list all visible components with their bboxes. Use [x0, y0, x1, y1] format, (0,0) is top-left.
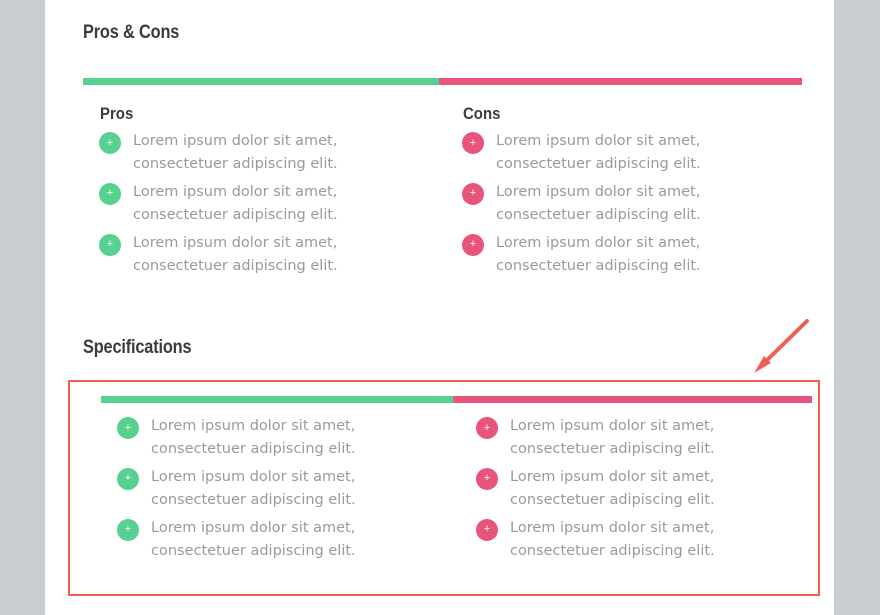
list-item-text: Lorem ipsum dolor sit amet, consectetuer… [510, 415, 790, 462]
list-item: + Lorem ipsum dolor sit amet, consectetu… [460, 415, 812, 462]
document-content: Pros & Cons Pros + Lorem ipsum dolor sit… [83, 0, 798, 615]
list-item-text: Lorem ipsum dolor sit amet, consectetuer… [510, 517, 790, 564]
column-heading-cons: Cons [463, 104, 761, 124]
section-divider-bar-pros-cons [83, 78, 802, 85]
list-item: + Lorem ipsum dolor sit amet, consectetu… [460, 517, 812, 564]
column-specifications-right: + Lorem ipsum dolor sit amet, consectetu… [460, 415, 812, 568]
columns-pros-cons: Pros + Lorem ipsum dolor sit amet, conse… [83, 104, 802, 283]
list-item-text: Lorem ipsum dolor sit amet, consectetuer… [496, 130, 776, 177]
column-heading-pros: Pros [100, 104, 398, 124]
list-item: + Lorem ipsum dolor sit amet, consectetu… [446, 181, 802, 228]
plus-circle-icon: + [117, 468, 139, 490]
list-item: + Lorem ipsum dolor sit amet, consectetu… [101, 415, 453, 462]
list-item-text: Lorem ipsum dolor sit amet, consectetuer… [151, 415, 431, 462]
list-item: + Lorem ipsum dolor sit amet, consectetu… [83, 181, 439, 228]
column-pros: Pros + Lorem ipsum dolor sit amet, conse… [83, 104, 439, 283]
plus-circle-icon: + [462, 234, 484, 256]
list-item: + Lorem ipsum dolor sit amet, consectetu… [101, 466, 453, 513]
section-title-pros-cons: Pros & Cons [83, 22, 179, 44]
divider-segment-green [83, 78, 439, 85]
feature-list-cons: + Lorem ipsum dolor sit amet, consectetu… [446, 130, 802, 279]
divider-segment-pink [453, 396, 812, 403]
list-item-text: Lorem ipsum dolor sit amet, consectetuer… [151, 466, 431, 513]
section-divider-bar-specifications [101, 396, 812, 403]
plus-circle-icon: + [476, 519, 498, 541]
feature-list-specifications-right: + Lorem ipsum dolor sit amet, consectetu… [460, 415, 812, 564]
section-title-specifications: Specifications [83, 337, 191, 359]
page-root: Pros & Cons Pros + Lorem ipsum dolor sit… [0, 0, 880, 615]
plus-circle-icon: + [117, 417, 139, 439]
plus-circle-icon: + [462, 183, 484, 205]
list-item: + Lorem ipsum dolor sit amet, consectetu… [460, 466, 812, 513]
columns-specifications: + Lorem ipsum dolor sit amet, consectetu… [101, 415, 820, 568]
plus-circle-icon: + [476, 468, 498, 490]
document-sheet: Pros & Cons Pros + Lorem ipsum dolor sit… [45, 0, 834, 615]
list-item: + Lorem ipsum dolor sit amet, consectetu… [101, 517, 453, 564]
plus-circle-icon: + [117, 519, 139, 541]
list-item-text: Lorem ipsum dolor sit amet, consectetuer… [496, 181, 776, 228]
plus-circle-icon: + [476, 417, 498, 439]
divider-segment-green [101, 396, 453, 403]
list-item: + Lorem ipsum dolor sit amet, consectetu… [83, 232, 439, 279]
list-item: + Lorem ipsum dolor sit amet, consectetu… [83, 130, 439, 177]
divider-segment-pink [439, 78, 802, 85]
feature-list-pros: + Lorem ipsum dolor sit amet, consectetu… [83, 130, 439, 279]
column-specifications-left: + Lorem ipsum dolor sit amet, consectetu… [101, 415, 453, 568]
plus-circle-icon: + [462, 132, 484, 154]
column-cons: Cons + Lorem ipsum dolor sit amet, conse… [446, 104, 802, 283]
list-item-text: Lorem ipsum dolor sit amet, consectetuer… [151, 517, 431, 564]
list-item: + Lorem ipsum dolor sit amet, consectetu… [446, 232, 802, 279]
list-item-text: Lorem ipsum dolor sit amet, consectetuer… [510, 466, 790, 513]
list-item-text: Lorem ipsum dolor sit amet, consectetuer… [133, 130, 413, 177]
plus-circle-icon: + [99, 132, 121, 154]
list-item-text: Lorem ipsum dolor sit amet, consectetuer… [133, 181, 413, 228]
list-item: + Lorem ipsum dolor sit amet, consectetu… [446, 130, 802, 177]
plus-circle-icon: + [99, 183, 121, 205]
list-item-text: Lorem ipsum dolor sit amet, consectetuer… [133, 232, 413, 279]
feature-list-specifications-left: + Lorem ipsum dolor sit amet, consectetu… [101, 415, 453, 564]
plus-circle-icon: + [99, 234, 121, 256]
list-item-text: Lorem ipsum dolor sit amet, consectetuer… [496, 232, 776, 279]
